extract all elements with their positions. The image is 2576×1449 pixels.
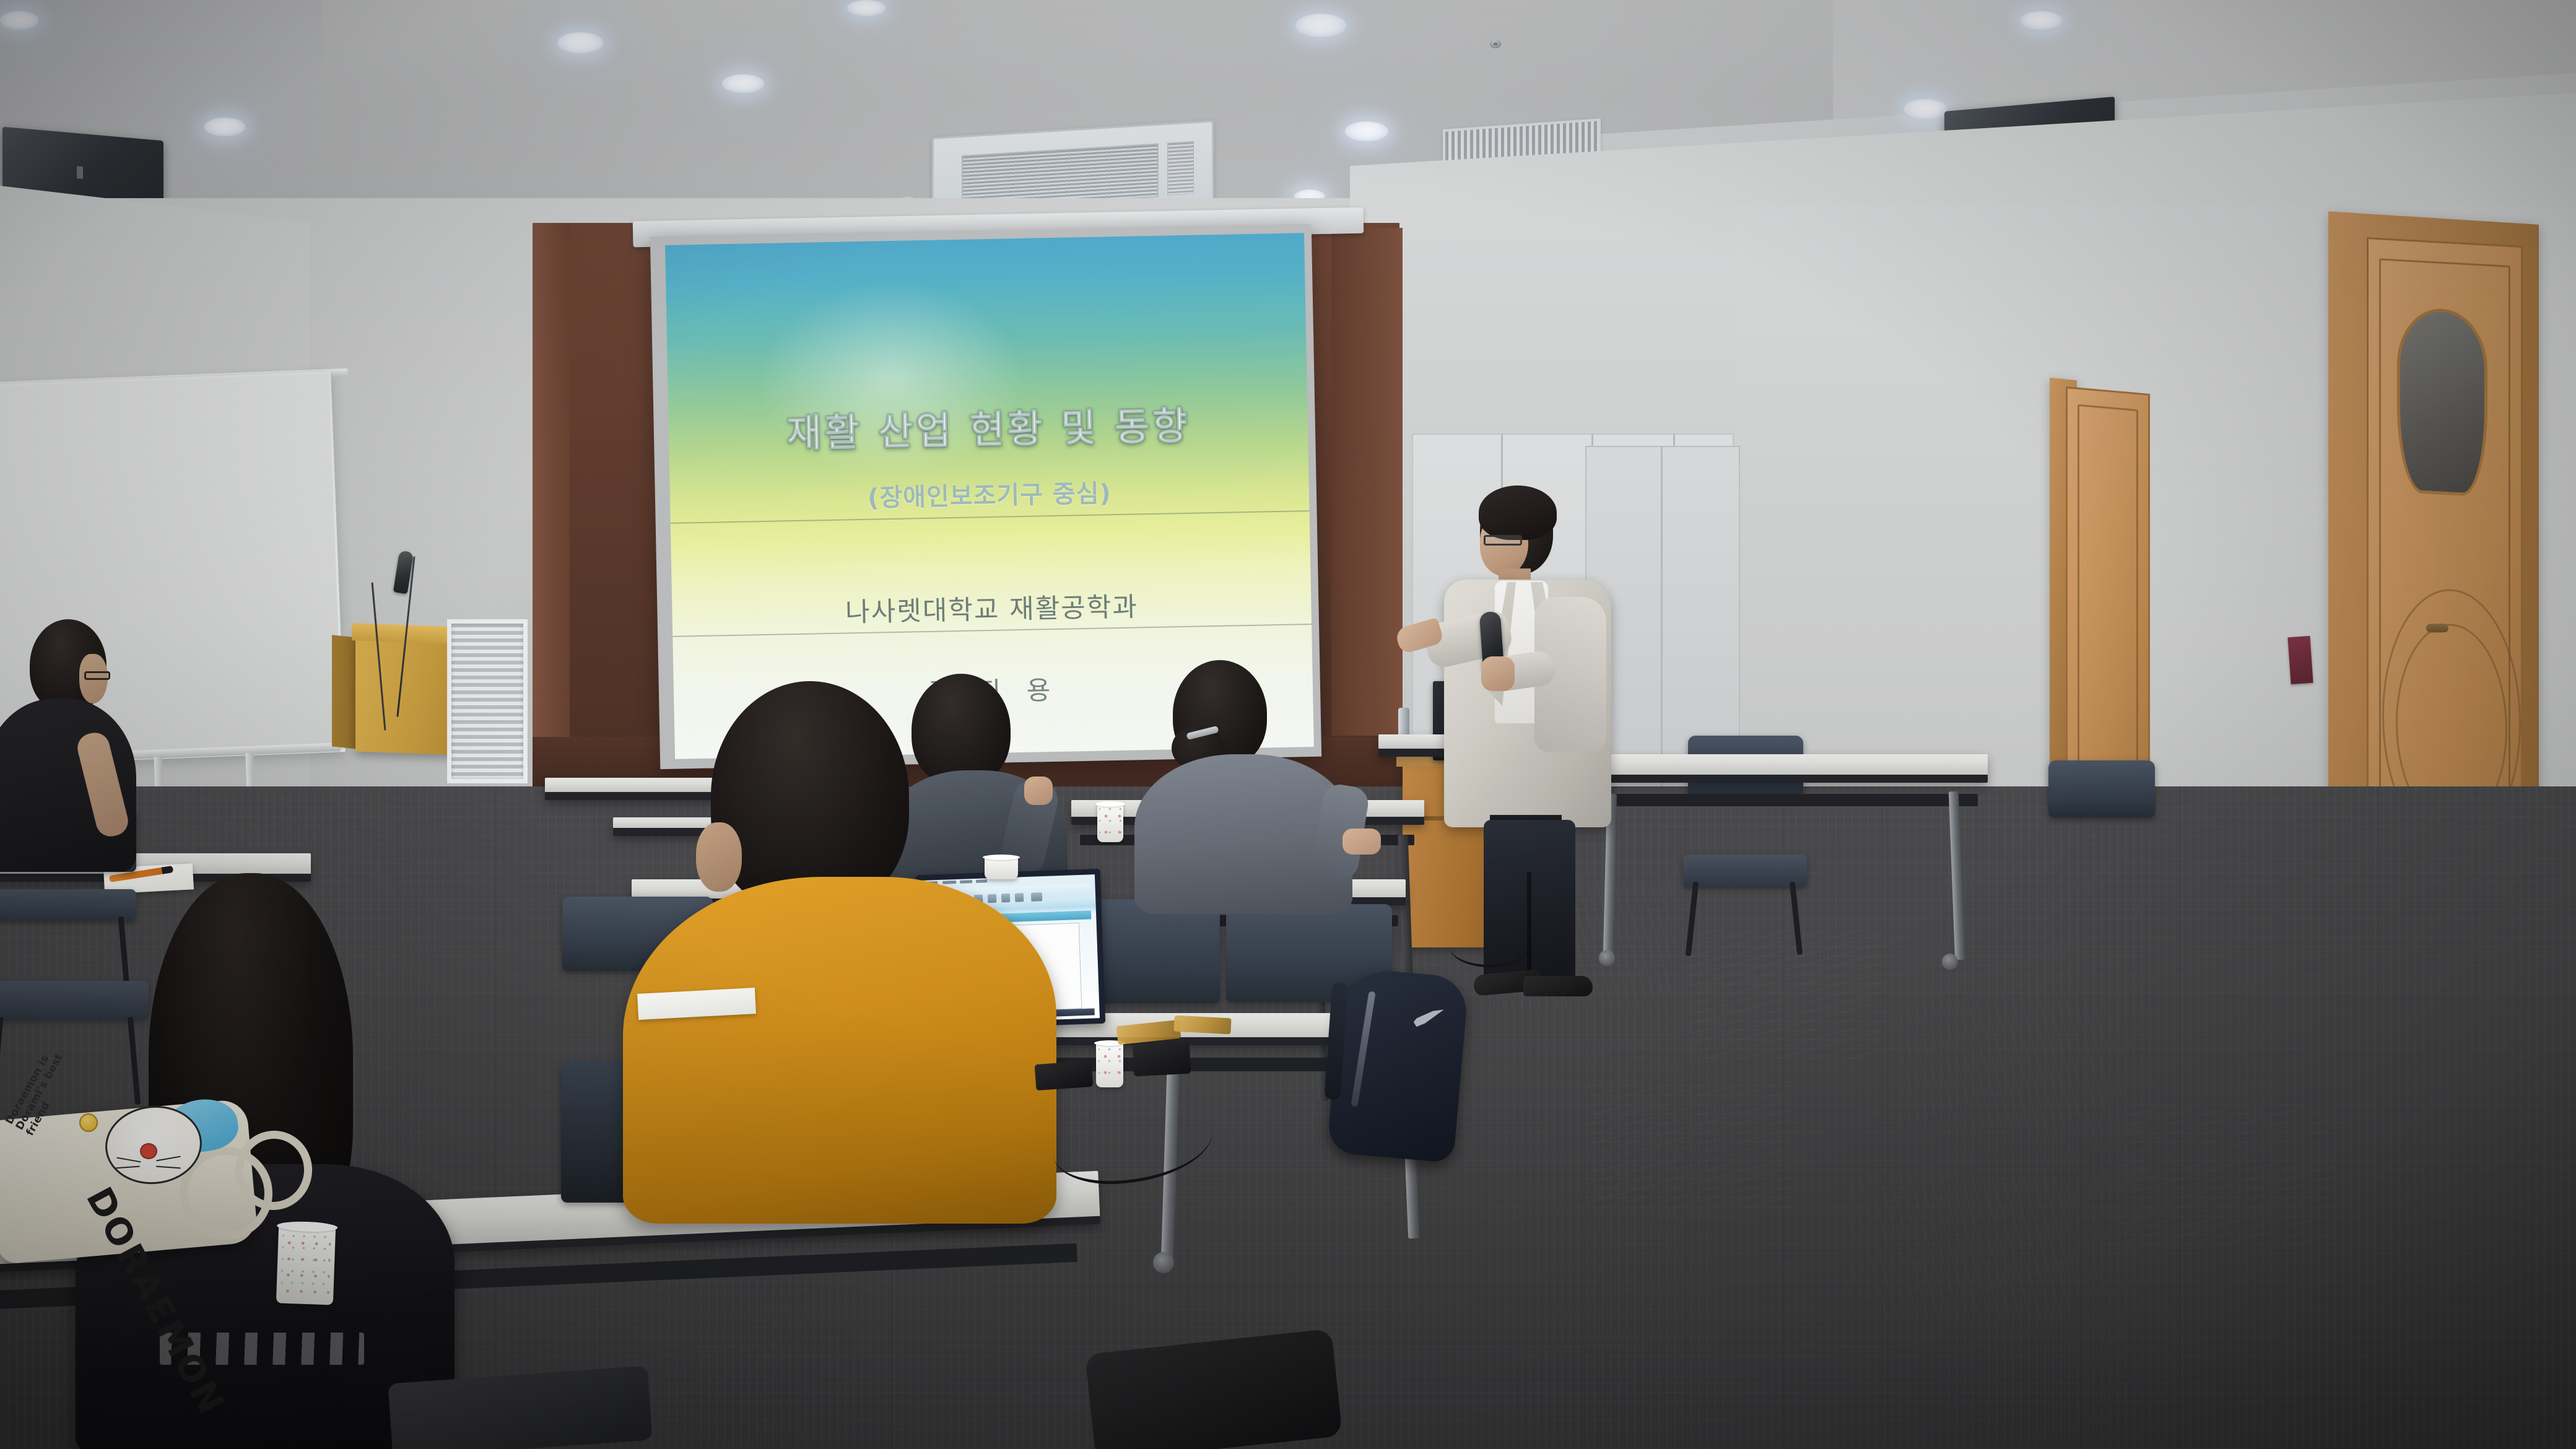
ceiling-downlight xyxy=(1904,99,1947,119)
student-mustard-sweater xyxy=(619,681,1090,1226)
carpet-tile xyxy=(1585,1077,1790,1211)
folding-table-back xyxy=(1591,754,1988,783)
ceiling-downlight xyxy=(2020,11,2062,30)
presenter-hand-right xyxy=(1481,656,1515,691)
doraemon-bell-icon xyxy=(79,1113,98,1132)
ceiling-downlight xyxy=(1295,14,1346,37)
ceiling-downlight xyxy=(557,32,603,53)
glasses-icon xyxy=(1484,535,1522,546)
student-sweater xyxy=(623,877,1056,1224)
cup-rim xyxy=(983,855,1020,860)
small-black-case[interactable] xyxy=(1133,1042,1191,1077)
paper-cup[interactable] xyxy=(985,857,1018,879)
presenter-hair xyxy=(1479,485,1557,540)
cup-rim xyxy=(1095,801,1125,807)
cup-pattern xyxy=(1099,808,1121,837)
student-hand xyxy=(1342,829,1381,855)
student-black-tshirt xyxy=(0,619,186,904)
doraemon-nose xyxy=(140,1143,157,1159)
ceiling-downlight xyxy=(0,11,38,30)
carpet-tile xyxy=(1845,1177,2068,1319)
glasses-icon xyxy=(84,671,110,680)
lecture-room-photo: 재활 산업 현황 및 동향 (장애인보조기구 중심) 나사렛대학교 재활공학과 … xyxy=(0,0,2576,1449)
snack-wrapper xyxy=(1173,1016,1231,1035)
table-surface xyxy=(1591,754,1988,783)
table-caster xyxy=(1942,954,1958,970)
student-gray-shirt-bun xyxy=(1134,656,1357,904)
presenter-shoe-right xyxy=(1523,976,1593,996)
cup-pattern xyxy=(1099,1048,1121,1081)
ceiling-downlight xyxy=(1345,121,1388,141)
cup-pattern xyxy=(281,1235,331,1294)
power-cable xyxy=(1449,924,1529,967)
chair-far-right[interactable] xyxy=(2043,760,2159,946)
carpet-tile xyxy=(2118,1108,2334,1248)
slide-title: 재활 산업 현황 및 동향 xyxy=(668,392,1308,460)
door-handle[interactable] xyxy=(2426,624,2449,633)
student-ear xyxy=(696,822,742,892)
wall-air-vent xyxy=(447,619,528,783)
wood-wall-panel-left-edge xyxy=(533,223,570,743)
paper-cup[interactable] xyxy=(1097,804,1123,842)
ceiling-downlight xyxy=(204,118,245,136)
ceiling-downlight xyxy=(847,0,885,16)
presenter xyxy=(1430,483,1635,988)
small-black-case[interactable] xyxy=(1035,1061,1094,1090)
fire-alarm-box[interactable] xyxy=(2287,636,2313,684)
paper-cup[interactable] xyxy=(1096,1043,1123,1087)
chair-backrest xyxy=(2048,760,2155,817)
table-apron xyxy=(1600,794,1978,806)
sprinkler-icon xyxy=(1490,40,1501,48)
paper-cup-foreground[interactable] xyxy=(276,1225,336,1305)
chair-seat xyxy=(1683,855,1807,887)
backpack[interactable] xyxy=(1326,967,1469,1164)
door-window xyxy=(2397,307,2487,497)
ceiling-downlight xyxy=(722,74,764,93)
chair-leg xyxy=(0,1017,3,1108)
table-caster xyxy=(1153,1252,1174,1273)
carpet-tile xyxy=(1684,929,1882,1059)
carpet-tile xyxy=(1895,997,2105,1133)
